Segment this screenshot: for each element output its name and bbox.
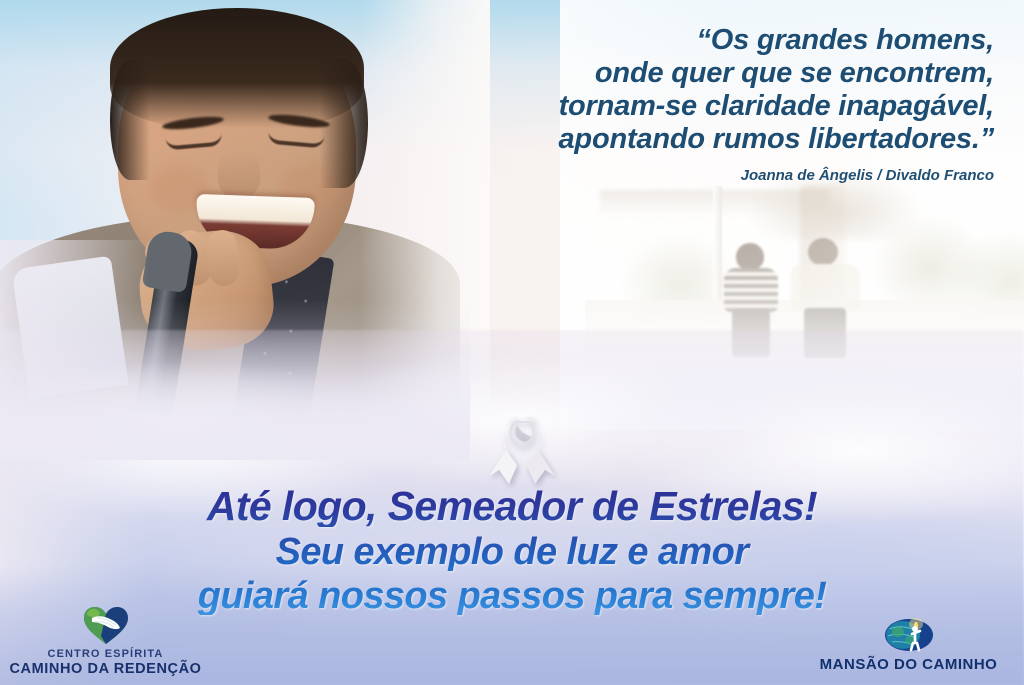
headline-line-1: Até logo, Semeador de Estrelas! bbox=[0, 486, 1024, 527]
portrait-nose bbox=[218, 150, 260, 198]
portrait-hair-side-left bbox=[110, 60, 150, 180]
quote-line-2: onde quer que se encontrem, bbox=[394, 57, 994, 90]
heart-hands-icon bbox=[8, 606, 203, 646]
headline-line-2: Seu exemplo de luz e amor bbox=[0, 533, 1024, 571]
memorial-poster: “Os grandes homens, onde quer que se enc… bbox=[0, 0, 1024, 685]
globe-figure-torch-icon bbox=[801, 613, 1016, 653]
quote-line-1: “Os grandes homens, bbox=[394, 24, 994, 57]
logo-left-line-1: CENTRO ESPÍRITA bbox=[8, 648, 203, 660]
headline-block: Até logo, Semeador de Estrelas! Seu exem… bbox=[0, 486, 1024, 615]
logo-centro-espirita: CENTRO ESPÍRITA CAMINHO DA REDENÇÃO bbox=[8, 606, 203, 677]
logo-right-line-1: MANSÃO DO CAMINHO bbox=[801, 656, 1016, 673]
logo-mansao-do-caminho: MANSÃO DO CAMINHO bbox=[801, 613, 1016, 673]
portrait-bottom-fade bbox=[0, 300, 470, 460]
portrait-finger-3 bbox=[206, 229, 240, 287]
white-ribbon-icon bbox=[487, 410, 557, 488]
quote-block: “Os grandes homens, onde quer que se enc… bbox=[394, 24, 994, 184]
quote-author: Joanna de Ângelis / Divaldo Franco bbox=[394, 167, 994, 184]
logo-left-line-2: CAMINHO DA REDENÇÃO bbox=[8, 661, 203, 677]
quote-line-4: apontando rumos libertadores.” bbox=[394, 123, 994, 156]
quote-line-3: tornam-se claridade inapagável, bbox=[394, 90, 994, 123]
